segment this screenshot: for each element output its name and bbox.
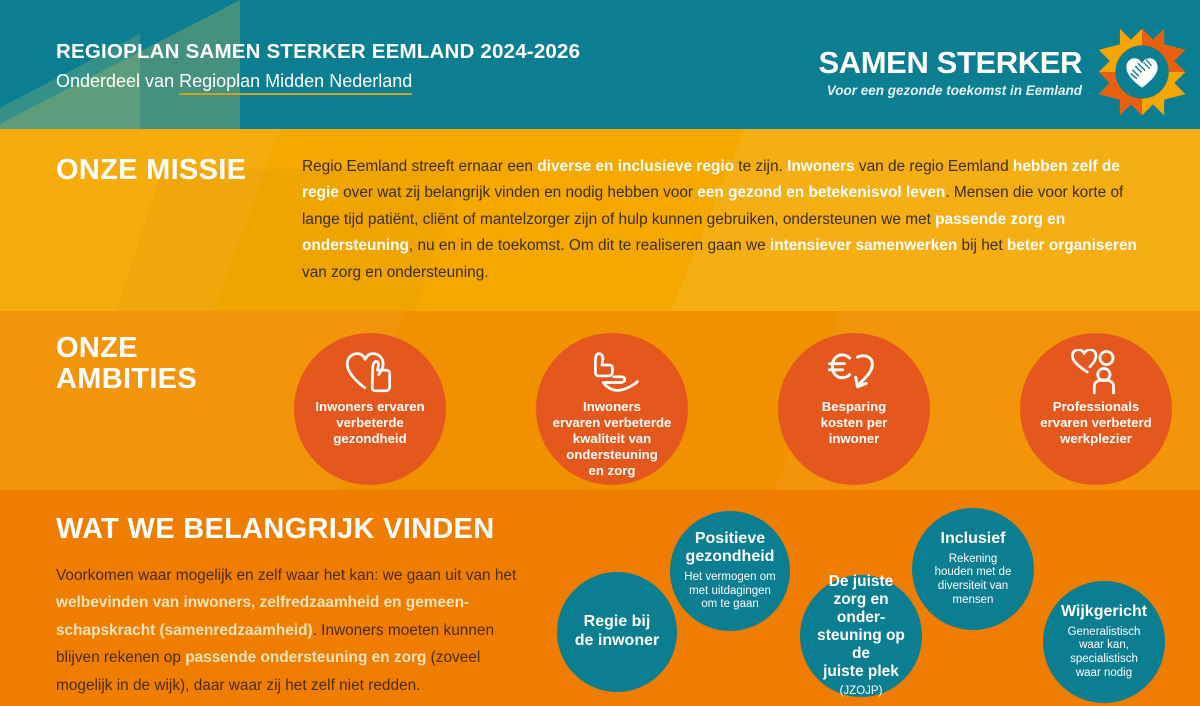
infographic-poster: REGIOPLAN SAMEN STERKER EEMLAND 2024-202…: [0, 0, 1200, 706]
highlighted-text-run-3: Inwoners: [787, 158, 855, 175]
value-circle-title: De juiste zorg en onder- steuning op de …: [808, 573, 914, 681]
value-circle-3[interactable]: De juiste zorg en onder- steuning op de …: [800, 575, 922, 697]
value-circle-subtitle: Generalistisch waar kan, specialistisch …: [1068, 626, 1141, 681]
brand-logo[interactable]: SAMEN STERKER Voor een gezonde toekomst …: [819, 26, 1189, 118]
plain-text-run-2: te zijn.: [734, 158, 787, 175]
plain-text-run-10: , nu en in de toekomst. Om dit te realis…: [409, 237, 770, 254]
value-circle-title: Regie bij de inwoner: [575, 613, 659, 650]
plain-text-run-0: Voorkomen waar mogelijk en zelf waar het…: [56, 567, 516, 584]
highlighted-text-run-1: diverse en inclusieve regio: [537, 158, 734, 175]
thumbsup-hand-icon: [584, 349, 640, 395]
value-circle-title: Inclusief: [941, 530, 1006, 549]
heart-handshake-icon: [1096, 26, 1188, 118]
logo-text: SAMEN STERKER Voor een gezonde toekomst …: [819, 47, 1083, 98]
highlighted-text-run-7: een gezond en betekenisvol leven: [697, 184, 945, 201]
ambition-label: Inwoners ervaren verbeterde gezondheid: [307, 399, 432, 447]
header-titles: REGIOPLAN SAMEN STERKER EEMLAND 2024-202…: [56, 40, 580, 92]
plain-text-run-14: van zorg en ondersteuning.: [302, 264, 489, 281]
subtitle-prefix: Onderdeel van: [56, 71, 179, 91]
heart-thumbsup-icon: [342, 349, 398, 395]
highlighted-text-run-3: passende ondersteuning en zorg: [185, 649, 426, 666]
subtitle-link[interactable]: Regioplan Midden Nederland: [179, 71, 412, 95]
ambition-label: Besparing kosten per inwoner: [813, 399, 896, 447]
heart-person-icon: [1068, 349, 1124, 395]
plain-text-run-4: van de regio Eemland: [855, 158, 1013, 175]
page-title: REGIOPLAN SAMEN STERKER EEMLAND 2024-202…: [56, 40, 580, 64]
value-circle-5[interactable]: WijkgerichtGeneralistisch waar kan, spec…: [1043, 581, 1165, 703]
value-circle-subtitle: Het vermogen om met uitdagingen om te ga…: [684, 571, 775, 612]
ambitions-heading-line-0: ONZE: [56, 333, 197, 364]
plain-text-run-12: bij het: [957, 237, 1007, 254]
value-circle-subtitle: Rekening houden met de diversiteit van m…: [935, 553, 1012, 608]
mission-heading: ONZE MISSIE: [56, 155, 246, 186]
ambition-circle-1[interactable]: Inwoners ervaren verbeterde gezondheid: [294, 333, 446, 485]
ambition-label: Inwoners ervaren verbeterde kwaliteit va…: [545, 399, 680, 479]
ambitions-heading-line-1: AMBITIES: [56, 364, 197, 395]
highlighted-text-run-13: beter organiseren: [1007, 237, 1137, 254]
logo-name: SAMEN STERKER: [819, 47, 1083, 78]
value-circle-2[interactable]: Positieve gezondheidHet vermogen om met …: [670, 511, 790, 631]
mission-band: ONZE MISSIE Regio Eemland streeft ernaar…: [0, 129, 1200, 311]
value-circle-title: Wijkgericht: [1061, 603, 1147, 622]
ambition-circle-3[interactable]: Besparing kosten per inwoner: [778, 333, 930, 485]
highlighted-text-run-11: intensiever samenwerken: [770, 237, 957, 254]
header-band: REGIOPLAN SAMEN STERKER EEMLAND 2024-202…: [0, 0, 1200, 129]
values-paragraph: Voorkomen waar mogelijk en zelf waar het…: [56, 562, 526, 699]
mission-paragraph: Regio Eemland streeft ernaar een diverse…: [302, 154, 1152, 286]
value-circle-1[interactable]: Regie bij de inwoner: [557, 572, 677, 692]
value-circle-4[interactable]: InclusiefRekening houden met de diversit…: [912, 508, 1034, 630]
values-heading: WAT WE BELANGRIJK VINDEN: [56, 514, 494, 545]
ambition-circle-2[interactable]: Inwoners ervaren verbeterde kwaliteit va…: [536, 333, 688, 485]
value-circle-title: Positieve gezondheid: [686, 530, 775, 567]
plain-text-run-0: Regio Eemland streeft ernaar een: [302, 158, 537, 175]
value-circle-subtitle: (JZOJP): [840, 685, 883, 699]
page-subtitle: Onderdeel van Regioplan Midden Nederland: [56, 71, 580, 92]
ambition-label: Professionals ervaren verbeterd werkplez…: [1032, 399, 1159, 447]
ambition-circle-4[interactable]: Professionals ervaren verbeterd werkplez…: [1020, 333, 1172, 485]
logo-tagline: Voor een gezonde toekomst in Eemland: [819, 83, 1083, 98]
plain-text-run-6: over wat zij belangrijk vinden en nodig …: [339, 184, 698, 201]
euro-arrow-down-icon: [826, 349, 882, 395]
ambitions-heading: ONZEAMBITIES: [56, 333, 197, 396]
